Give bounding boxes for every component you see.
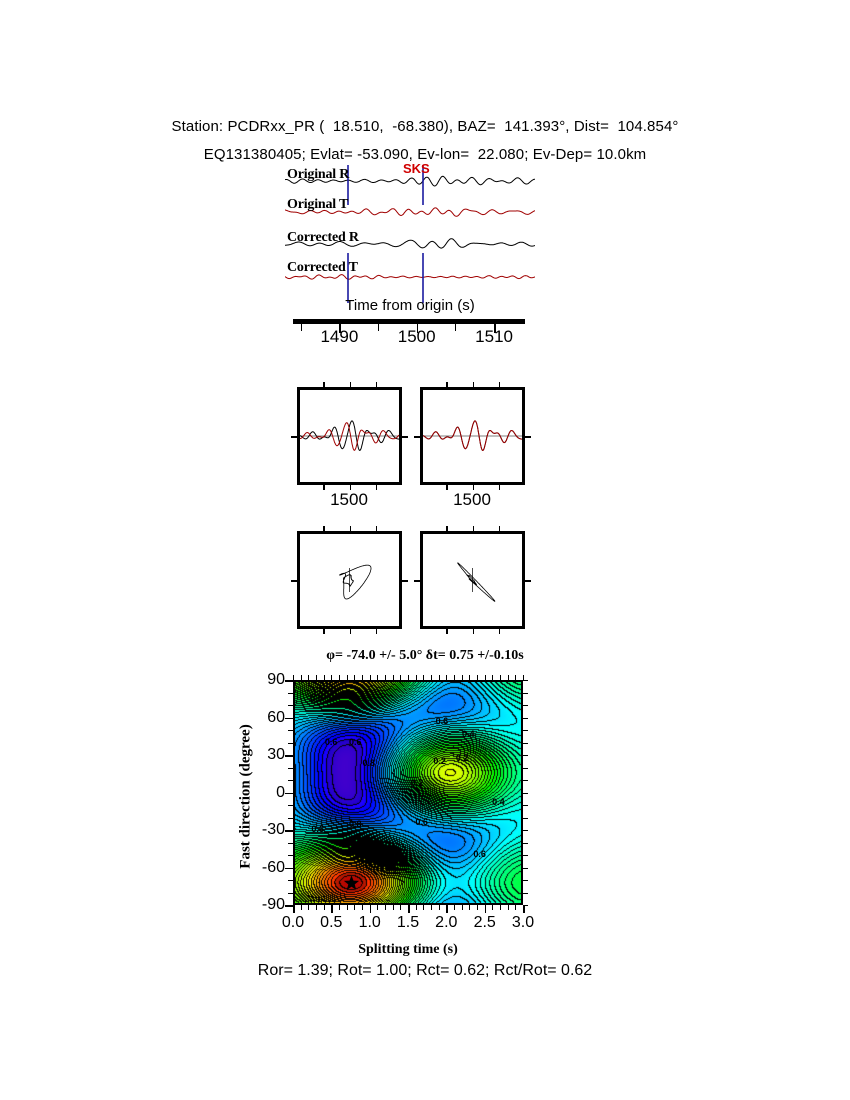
particle-motion-corrected-path (423, 534, 522, 626)
contour-x-tick-label: 2.0 (435, 914, 457, 932)
trace-label-corrected-r: Corrected R (287, 230, 359, 246)
contour-x-tick-label: 0.5 (320, 914, 342, 932)
time-axis-title: Time from origin (s) (345, 297, 474, 314)
quality-metrics-footer: Ror= 1.39; Rot= 1.00; Rct= 0.62; Rct/Rot… (0, 962, 850, 980)
contour-y-tick-label: -60 (241, 859, 285, 877)
particle-motion-uncorrected (297, 531, 402, 629)
trace-label-original-t: Original T (287, 197, 348, 213)
fast-slow-left-tick-label: 1500 (330, 490, 368, 510)
contour-x-tick-label: 3.0 (512, 914, 534, 932)
contour-y-tick-label: 30 (241, 746, 285, 764)
contour-y-tick-label: -30 (241, 821, 285, 839)
contour-y-tick-label: 90 (241, 671, 285, 689)
fast-slow-corrected-traces (423, 390, 522, 482)
contour-x-tick-label: 2.5 (474, 914, 496, 932)
header-line-station: Station: PCDRxx_PR ( 18.510, -68.380), B… (0, 118, 850, 135)
contour-y-tick-label: 0 (241, 784, 285, 802)
time-axis: Time from origin (s) 149015001510 (285, 305, 535, 353)
particle-motion-uncorrected-path (300, 534, 399, 626)
trace-label-original-r: Original R (287, 167, 349, 183)
fast-slow-right-tick-label: 1500 (453, 490, 491, 510)
contour-x-tick-label: 1.0 (359, 914, 381, 932)
sks-phase-label: SKS (403, 161, 430, 176)
fast-slow-panel-uncorrected (297, 387, 402, 485)
time-axis-bar (293, 319, 525, 324)
best-fit-star-marker (295, 682, 521, 903)
waveform-panel: SKS Original R Original T Corrected R Co… (285, 165, 535, 305)
contour-x-tick-label: 1.5 (397, 914, 419, 932)
particle-motion-corrected (420, 531, 525, 629)
fast-slow-uncorrected-traces (300, 390, 399, 482)
trace-label-corrected-t: Corrected T (287, 260, 358, 276)
contour-x-axis-label: Splitting time (s) (293, 942, 523, 958)
contour-y-tick-label: 60 (241, 709, 285, 727)
error-surface-contour-plot[interactable]: 0.40.60.40.60.60.80.20.20.20.40.60.60.80… (293, 680, 523, 905)
contour-y-tick-label: -90 (241, 896, 285, 914)
splitting-result-title: φ= -74.0 +/- 5.0° δt= 0.75 +/-0.10s (0, 648, 850, 664)
fast-slow-panel-corrected (420, 387, 525, 485)
contour-x-tick-label: 0.0 (282, 914, 304, 932)
